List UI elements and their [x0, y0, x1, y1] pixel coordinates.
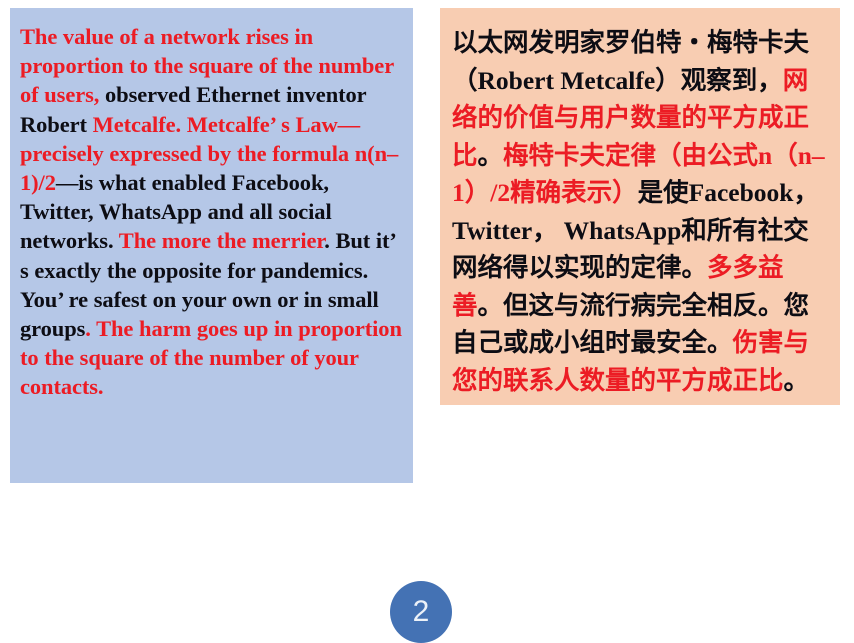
zh-segment-8: 精确表示）: [510, 178, 638, 207]
en-segment-5: The more the merrier: [119, 228, 324, 253]
zh-segment-6: 梅特卡夫定律（由公式: [503, 141, 758, 170]
zh-segment-5: 。: [478, 141, 504, 170]
page-number-label: 2: [413, 597, 430, 627]
zh-segment-15: 。: [784, 366, 810, 395]
zh-segment-2-latin-name: Robert Metcalfe: [478, 66, 656, 95]
slide-canvas: The value of a network rises in proporti…: [0, 0, 854, 640]
chinese-paragraph: 以太网发明家罗伯特・梅特卡夫（Robert Metcalfe）观察到，网络的价值…: [452, 24, 830, 399]
english-paragraph: The value of a network rises in proporti…: [20, 22, 405, 402]
page-number-badge: 2: [390, 581, 452, 643]
zh-segment-3: ）观察到，: [655, 66, 783, 95]
zh-segment-9: 是使: [638, 178, 689, 207]
english-text-panel: The value of a network rises in proporti…: [10, 8, 413, 483]
chinese-text-panel: 以太网发明家罗伯特・梅特卡夫（Robert Metcalfe）观察到，网络的价值…: [440, 8, 840, 405]
